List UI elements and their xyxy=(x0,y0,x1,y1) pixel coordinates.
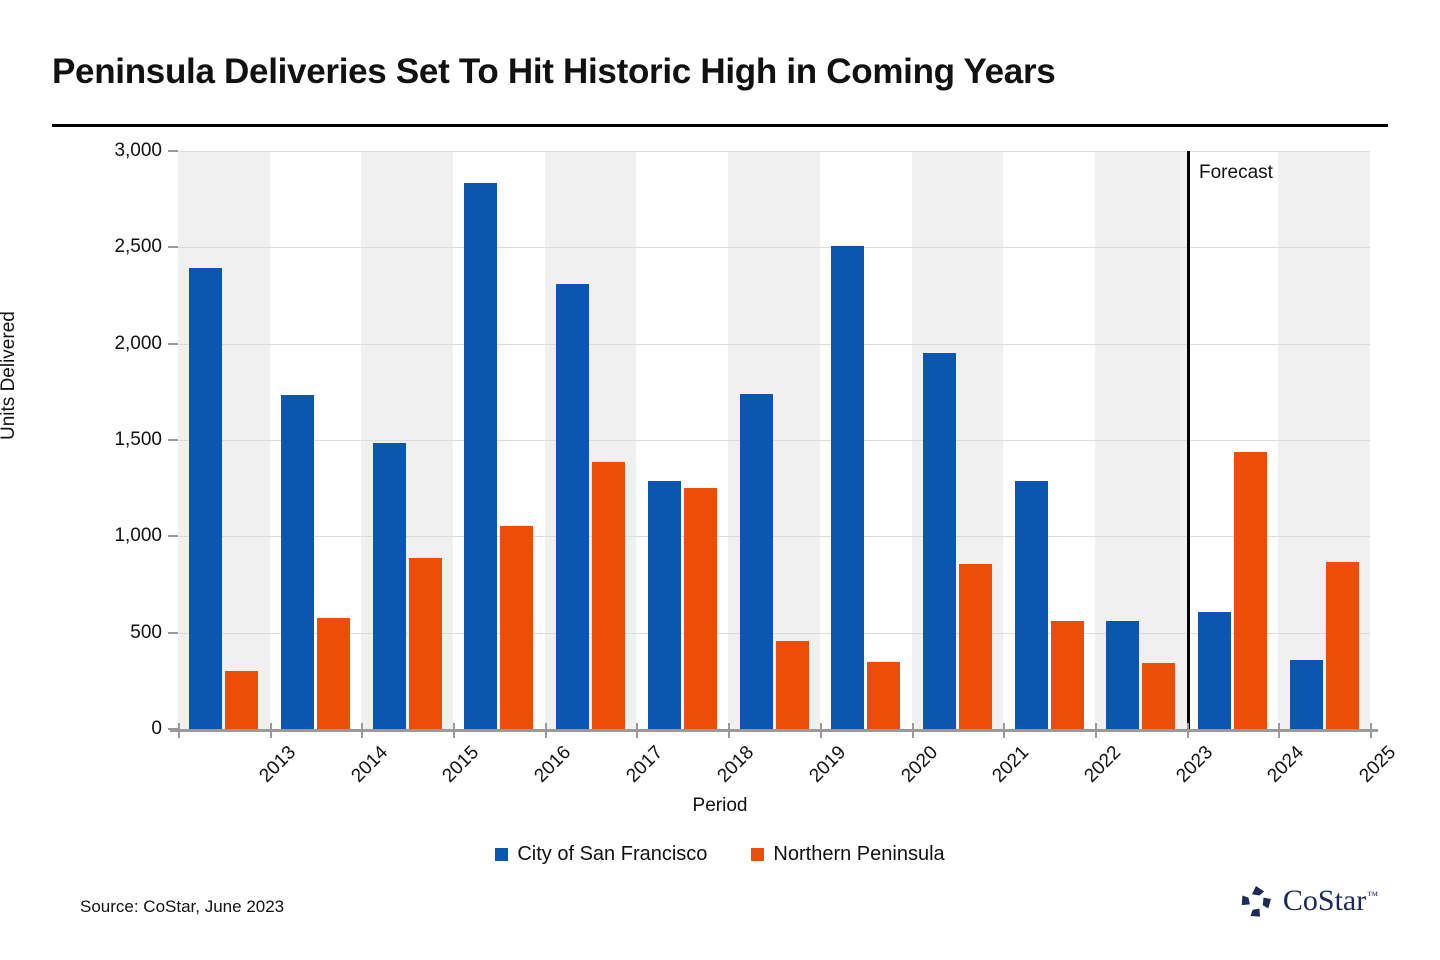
legend-item-northern-peninsula[interactable]: Northern Peninsula xyxy=(751,843,944,866)
page-title: Peninsula Deliveries Set To Hit Historic… xyxy=(52,52,1392,92)
x-tick-mark xyxy=(1370,723,1372,738)
x-category-label-2022: 2022 xyxy=(1080,742,1125,787)
x-tick-mark xyxy=(1278,723,1280,738)
y-tick-label: 3,000 xyxy=(0,140,162,162)
gridline xyxy=(178,344,1370,345)
bar-city-of-san-francisco-2016 xyxy=(464,183,497,729)
title-divider xyxy=(52,124,1388,127)
legend-swatch-icon xyxy=(495,848,508,861)
gridline xyxy=(178,151,1370,152)
x-tick-mark xyxy=(1003,723,1005,738)
x-category-label-2020: 2020 xyxy=(897,742,942,787)
x-category-label-2019: 2019 xyxy=(805,742,850,787)
x-category-label-2024: 2024 xyxy=(1264,742,1309,787)
source-note: Source: CoStar, June 2023 xyxy=(80,897,284,917)
x-tick-mark xyxy=(728,723,730,738)
x-tick-mark xyxy=(270,723,272,738)
x-tick-mark xyxy=(178,723,180,738)
bar-city-of-san-francisco-2022 xyxy=(1015,481,1048,729)
x-tick-mark xyxy=(361,723,363,738)
x-category-label-2023: 2023 xyxy=(1172,742,1217,787)
x-axis-line xyxy=(170,729,1378,732)
x-tick-mark xyxy=(820,723,822,738)
x-category-label-2017: 2017 xyxy=(622,742,667,787)
x-category-label-2014: 2014 xyxy=(347,742,392,787)
y-tick-mark xyxy=(168,439,178,441)
x-category-label-2016: 2016 xyxy=(530,742,575,787)
costar-pinwheel-icon xyxy=(1239,884,1273,918)
legend-label: Northern Peninsula xyxy=(773,843,944,866)
bar-city-of-san-francisco-2020 xyxy=(831,246,864,729)
bar-northern-peninsula-2024 xyxy=(1234,452,1267,729)
y-tick-mark xyxy=(168,632,178,634)
y-tick-mark xyxy=(168,150,178,152)
y-tick-mark xyxy=(168,343,178,345)
bar-northern-peninsula-2015 xyxy=(409,558,442,729)
bar-city-of-san-francisco-2014 xyxy=(281,395,314,729)
bar-city-of-san-francisco-2015 xyxy=(373,443,406,729)
bar-northern-peninsula-2023 xyxy=(1142,663,1175,729)
legend-item-city-of-san-francisco[interactable]: City of San Francisco xyxy=(495,843,707,866)
bar-northern-peninsula-2016 xyxy=(500,526,533,729)
plot-area: Forecast xyxy=(178,151,1370,729)
gridline xyxy=(178,247,1370,248)
costar-logo: CoStar™ xyxy=(1239,884,1378,918)
x-tick-mark xyxy=(545,723,547,738)
y-tick-label: 1,500 xyxy=(0,429,162,451)
x-category-label-2015: 2015 xyxy=(439,742,484,787)
y-tick-mark xyxy=(168,246,178,248)
bar-northern-peninsula-2021 xyxy=(959,564,992,729)
bar-city-of-san-francisco-2017 xyxy=(556,284,589,729)
chart-page: Peninsula Deliveries Set To Hit Historic… xyxy=(0,0,1440,960)
y-tick-label: 2,000 xyxy=(0,333,162,355)
bar-northern-peninsula-2014 xyxy=(317,618,350,729)
bar-city-of-san-francisco-2021 xyxy=(923,353,956,729)
gridline xyxy=(178,536,1370,537)
y-tick-mark xyxy=(168,535,178,537)
y-tick-mark xyxy=(168,728,178,730)
bar-northern-peninsula-2013 xyxy=(225,671,258,729)
legend-swatch-icon xyxy=(751,848,764,861)
bar-northern-peninsula-2025 xyxy=(1326,562,1359,729)
chart-legend: City of San FranciscoNorthern Peninsula xyxy=(0,843,1440,866)
y-tick-label: 2,500 xyxy=(0,236,162,258)
x-category-label-2018: 2018 xyxy=(714,742,759,787)
gridline xyxy=(178,633,1370,634)
forecast-divider-line xyxy=(1187,151,1190,729)
x-category-label-2025: 2025 xyxy=(1356,742,1401,787)
bar-city-of-san-francisco-2018 xyxy=(648,481,681,729)
x-tick-mark xyxy=(912,723,914,738)
bar-northern-peninsula-2022 xyxy=(1051,621,1084,729)
gridline xyxy=(178,440,1370,441)
x-category-label-2021: 2021 xyxy=(989,742,1034,787)
x-tick-mark xyxy=(1095,723,1097,738)
bar-city-of-san-francisco-2013 xyxy=(189,268,222,729)
bar-northern-peninsula-2019 xyxy=(776,641,809,729)
bar-city-of-san-francisco-2025 xyxy=(1290,660,1323,729)
bar-city-of-san-francisco-2019 xyxy=(740,394,773,729)
y-tick-label: 500 xyxy=(0,622,162,644)
x-tick-mark xyxy=(453,723,455,738)
bar-city-of-san-francisco-2023 xyxy=(1106,621,1139,729)
costar-wordmark-text: CoStar xyxy=(1283,884,1366,917)
bar-northern-peninsula-2018 xyxy=(684,488,717,729)
bar-northern-peninsula-2020 xyxy=(867,662,900,729)
x-axis-title: Period xyxy=(0,795,1440,817)
x-category-label-2013: 2013 xyxy=(255,742,300,787)
costar-wordmark: CoStar™ xyxy=(1283,884,1378,918)
forecast-label: Forecast xyxy=(1199,162,1273,184)
bar-city-of-san-francisco-2024 xyxy=(1198,612,1231,729)
bar-northern-peninsula-2017 xyxy=(592,462,625,729)
trademark-symbol: ™ xyxy=(1367,890,1378,902)
y-tick-label: 1,000 xyxy=(0,525,162,547)
x-tick-mark xyxy=(636,723,638,738)
y-tick-label: 0 xyxy=(0,718,162,740)
x-tick-mark xyxy=(1187,723,1189,738)
legend-label: City of San Francisco xyxy=(517,843,707,866)
